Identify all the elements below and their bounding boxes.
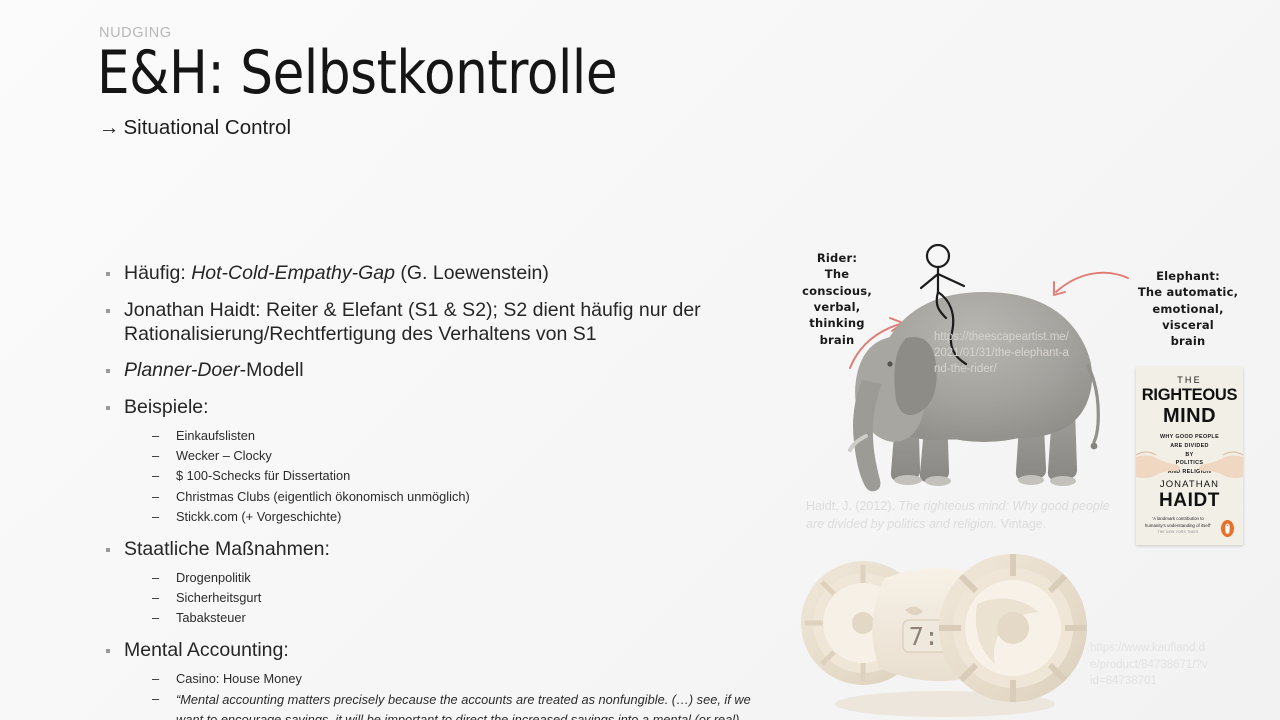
- elephant-source-watermark: https://theescapeartist.me/2021/01/31/th…: [934, 330, 1074, 378]
- bullet-item-planner-doer: Planner-Doer-Modell: [104, 359, 754, 383]
- list-item: Sicherheitsgurt: [104, 588, 754, 608]
- content-bullet-list: Häufig: Hot-Cold-Empathy-Gap (G. Loewens…: [104, 262, 754, 720]
- elephant-body-shape: [850, 292, 1098, 491]
- bullet-text-post: (G. Loewenstein): [395, 262, 549, 284]
- elephant-rider-illustration: [788, 240, 1148, 520]
- list-item: $ 100-Schecks für Dissertation: [104, 466, 754, 486]
- righteous-mind-book-cover: THE RIGHTEOUS MIND WHY GOOD PEOPLE ARE D…: [1136, 367, 1243, 545]
- page-title: E&H: Selbstkontrolle: [97, 42, 617, 105]
- list-item: Wecker – Clocky: [104, 446, 754, 466]
- elephant-rider-figure: Rider: The conscious, verbal, thinking b…: [788, 240, 1148, 520]
- bullet-text-italic: Hot-Cold-Empathy-Gap: [191, 262, 395, 284]
- right-arrow-icon: →: [99, 116, 120, 139]
- list-item-quote: “Mental accounting matters precisely bec…: [104, 689, 754, 720]
- book-blurb-text: ‘A landmark contribution to humanity’s u…: [1145, 516, 1211, 528]
- pointing-hands-icon: [1136, 439, 1243, 479]
- sub-list-beispiele: Einkaufslisten Wecker – Clocky $ 100-Sch…: [104, 426, 754, 527]
- clocky-right-wheel: [939, 554, 1087, 702]
- clocky-alarm-clock-image: 7:17: [795, 528, 1095, 720]
- list-item: Einkaufslisten: [104, 426, 754, 446]
- book-blurb-source: THE NEW YORK TIMES: [1158, 530, 1199, 534]
- bullet-text-post: -Modell: [240, 359, 304, 381]
- bullet-item-haeufig: Häufig: Hot-Cold-Empathy-Gap (G. Loewens…: [104, 262, 754, 286]
- page-subtitle: →Situational Control: [99, 116, 291, 140]
- penguin-logo-icon: [1221, 520, 1234, 537]
- sub-list-staatliche-massnahmen: Drogenpolitik Sicherheitsgurt Tabaksteue…: [104, 568, 754, 629]
- page-subtitle-text: Situational Control: [124, 116, 292, 139]
- book-righteous-label: RIGHTEOUS: [1136, 386, 1243, 405]
- list-item: Drogenpolitik: [104, 568, 754, 588]
- bullet-text-italic: Planner-Doer: [124, 359, 240, 381]
- bullet-item-staatliche-massnahmen: Staatliche Maßnahmen:: [104, 538, 754, 562]
- slide-canvas: NUDGING E&H: Selbstkontrolle →Situationa…: [0, 0, 1280, 720]
- book-author-first-label: JONATHAN: [1136, 479, 1243, 490]
- book-the-label: THE: [1136, 375, 1243, 385]
- list-item: Tabaksteuer: [104, 608, 754, 628]
- book-blurb-label: ‘A landmark contribution to humanity’s u…: [1142, 516, 1214, 536]
- bullet-item-haidt: Jonathan Haidt: Reiter & Elefant (S1 & S…: [104, 299, 754, 347]
- citation-pre: Haidt, J. (2012).: [806, 499, 898, 513]
- book-author-last-label: HAIDT: [1136, 490, 1243, 512]
- bullet-item-mental-accounting: Mental Accounting:: [104, 639, 754, 663]
- arrow-to-elephant-icon: [1054, 273, 1128, 295]
- list-item: Casino: House Money: [104, 669, 754, 689]
- list-item: Stickk.com (+ Vorgeschichte): [104, 507, 754, 527]
- kaufland-source-watermark: https://www.kaufland.de/product/84738671…: [1090, 640, 1210, 690]
- book-mind-label: MIND: [1136, 405, 1243, 428]
- sub-list-mental-accounting: Casino: House Money “Mental accounting m…: [104, 669, 754, 720]
- list-item: Christmas Clubs (eigentlich ökonomisch u…: [104, 487, 754, 507]
- bullet-item-beispiele: Beispiele:: [104, 396, 754, 420]
- bullet-text-pre: Häufig:: [124, 262, 191, 284]
